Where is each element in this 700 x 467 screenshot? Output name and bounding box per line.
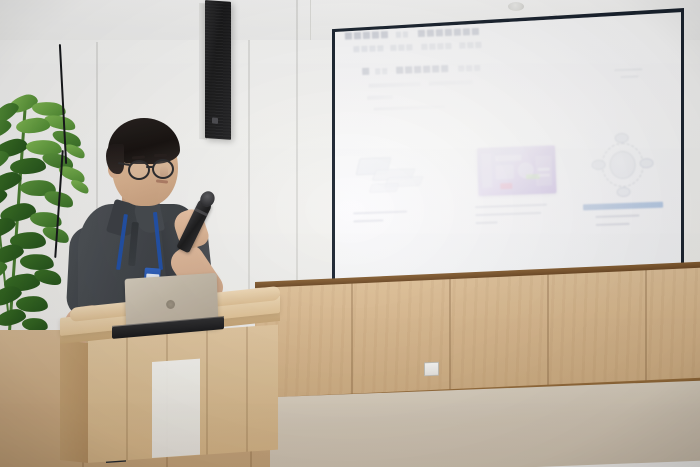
laptop bbox=[112, 276, 230, 344]
projection-screen bbox=[332, 8, 684, 290]
podium-side-panel bbox=[60, 340, 88, 463]
screen-surface bbox=[335, 11, 681, 287]
glasses-left-lens bbox=[128, 160, 150, 180]
photo-scene bbox=[0, 0, 700, 467]
microphone-ring bbox=[194, 208, 208, 217]
glasses-right-lens bbox=[152, 159, 174, 179]
laptop-logo bbox=[166, 300, 175, 309]
microphone-head bbox=[198, 189, 218, 210]
eyebrow-right bbox=[154, 154, 167, 157]
hair-sideburn bbox=[106, 144, 124, 174]
wall-outlet bbox=[424, 362, 439, 377]
glasses-bridge bbox=[146, 166, 153, 168]
wall-panel-edge bbox=[310, 0, 311, 40]
wall-seam bbox=[296, 0, 298, 290]
screen-glow bbox=[335, 11, 681, 287]
podium-inner-panel bbox=[152, 359, 200, 458]
